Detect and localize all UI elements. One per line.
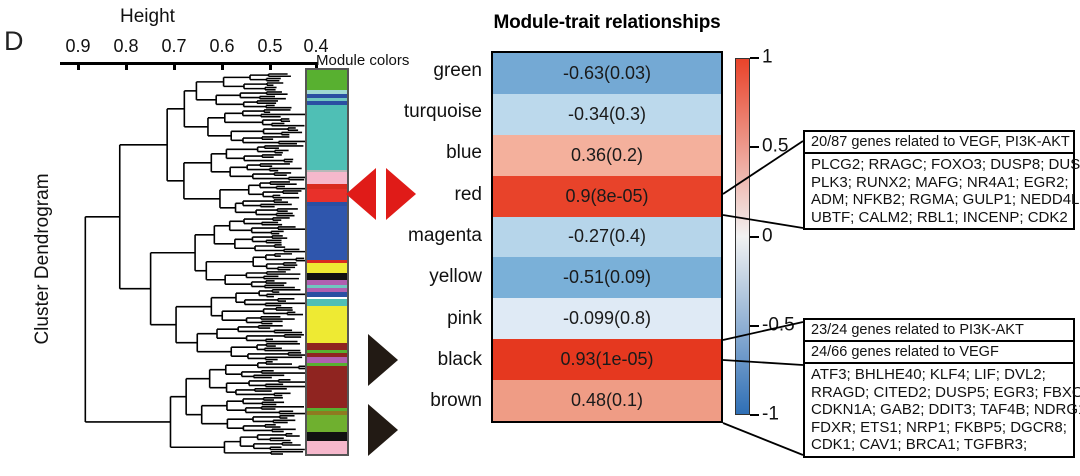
height-tick-label: 0.5 <box>257 36 282 57</box>
gene-box-header-vegf: 24/66 genes related to VEGF <box>805 342 1073 364</box>
height-axis-title: Height <box>120 6 175 28</box>
module-colors-label: Module colors <box>316 52 409 69</box>
module-color-band <box>307 299 347 306</box>
heatmap-title: Module-trait relationships <box>491 12 723 34</box>
gene-box-body: ATF3; BHLHE40; KLF4; LIF; DVL2;RRAGD; CI… <box>805 364 1073 456</box>
module-row-label-yellow: yellow <box>429 266 482 288</box>
black-module-marker <box>368 334 398 386</box>
module-color-band <box>307 70 347 90</box>
heatmap-cell-brown: 0.48(0.1) <box>493 380 721 421</box>
module-color-band <box>307 172 347 184</box>
brown-module-marker <box>368 404 398 456</box>
module-color-band <box>307 343 347 350</box>
module-color-band <box>307 441 347 453</box>
colorbar-tick-label: -0.5 <box>762 314 795 336</box>
module-color-band <box>307 273 347 280</box>
heatmap-cell-red: 0.9(8e-05) <box>493 176 721 217</box>
gene-line: ATF3; BHLHE40; KLF4; LIF; DVL2; <box>811 366 1067 384</box>
cluster-dendrogram-plot <box>60 70 310 460</box>
heatmap-cell-pink: -0.099(0.8) <box>493 298 721 339</box>
heatmap-cell-yellow: -0.51(0.09) <box>493 257 721 298</box>
module-row-label-red: red <box>455 184 482 206</box>
module-color-band <box>307 206 347 260</box>
module-color-band <box>307 263 347 274</box>
gene-line: CDKN1A; GAB2; DDIT3; TAF4B; NDRG1; <box>811 401 1067 419</box>
gene-line: FDXR; ETS1; NRP1; FKBP5; DGCR8; <box>811 419 1067 437</box>
module-row-label-magenta: magenta <box>408 225 482 247</box>
height-axis-line <box>60 62 318 65</box>
gene-line: PLCG2; RRAGC; FOXO3; DUSP8; DUSP1 <box>811 156 1067 174</box>
gene-line: UBTF; CALM2; RBL1; INCENP; CDK2 <box>811 209 1067 227</box>
height-tick-mark <box>221 62 224 70</box>
gene-box-black-brown-module: 23/24 genes related to PI3K-AKT 24/66 ge… <box>803 318 1075 458</box>
heatmap-cell-black: 0.93(1e-05) <box>493 339 721 380</box>
module-color-band <box>307 306 347 343</box>
colorbar-tick-mark <box>750 414 759 416</box>
gene-line: ADM; NFKB2; RGMA; GULP1; NEDD4L; <box>811 191 1067 209</box>
gene-box-header: 20/87 genes related to VEGF, PI3K-AKT <box>805 132 1073 154</box>
height-tick-label: 0.9 <box>65 36 90 57</box>
height-tick-label: 0.6 <box>209 36 234 57</box>
module-row-labels: greenturquoiseblueredmagentayellowpinkbl… <box>398 51 482 423</box>
heatmap-cell-green: -0.63(0.03) <box>493 53 721 94</box>
colorbar-tick-mark <box>750 325 759 327</box>
module-row-label-turquoise: turquoise <box>404 101 482 123</box>
module-colors-strip <box>305 68 349 456</box>
height-tick-mark <box>77 62 80 70</box>
gene-line: CDK1; CAV1; BRCA1; TGFBR3; <box>811 436 1067 454</box>
height-tick-mark <box>173 62 176 70</box>
heatmap-cell-turquoise: -0.34(0.3) <box>493 94 721 135</box>
module-color-band <box>307 189 347 202</box>
height-tick-mark <box>269 62 272 70</box>
colorbar-gradient <box>735 58 750 415</box>
colorbar-tick-label: 1 <box>762 47 773 69</box>
gene-box-red-module: 20/87 genes related to VEGF, PI3K-AKT PL… <box>803 130 1075 230</box>
module-color-band <box>307 366 347 407</box>
module-color-band <box>307 432 347 441</box>
gene-box-body: PLCG2; RRAGC; FOXO3; DUSP8; DUSP1PLK3; R… <box>805 154 1073 228</box>
gene-box-header-pi3k: 23/24 genes related to PI3K-AKT <box>805 320 1073 342</box>
module-row-label-black: black <box>438 349 482 371</box>
height-tick-label: 0.7 <box>161 36 186 57</box>
red-module-marker-left <box>346 168 376 220</box>
colorbar-tick-label: -1 <box>762 404 779 426</box>
module-row-label-pink: pink <box>447 308 482 330</box>
colorbar-tick-mark <box>750 57 759 59</box>
gene-line: RRAGD; CITED2; DUSP5; EGR3; FBXO32; <box>811 384 1067 402</box>
module-color-band <box>307 105 347 170</box>
module-color-band <box>307 415 347 433</box>
colorbar-tick-label: 0 <box>762 225 773 247</box>
heatmap-cell-blue: 0.36(0.2) <box>493 135 721 176</box>
heatmap-cell-magenta: -0.27(0.4) <box>493 217 721 258</box>
colorbar-tick-mark <box>750 236 759 238</box>
gene-line: PLK3; RUNX2; MAFG; NR4A1; EGR2; <box>811 174 1067 192</box>
height-tick-mark <box>125 62 128 70</box>
colorbar-tick-mark <box>750 146 759 148</box>
module-trait-heatmap: -0.63(0.03)-0.34(0.3)0.36(0.2)0.9(8e-05)… <box>491 51 723 423</box>
module-row-label-green: green <box>433 60 482 82</box>
module-row-label-blue: blue <box>446 142 482 164</box>
cluster-dendrogram-label: Cluster Dendrogram <box>32 169 54 349</box>
height-tick-label: 0.8 <box>113 36 138 57</box>
colorbar-tick-label: 0.5 <box>762 136 788 158</box>
dendrogram-svg <box>60 70 310 460</box>
panel-letter: D <box>4 26 24 57</box>
module-row-label-brown: brown <box>430 390 482 412</box>
red-module-marker-right <box>386 168 416 220</box>
